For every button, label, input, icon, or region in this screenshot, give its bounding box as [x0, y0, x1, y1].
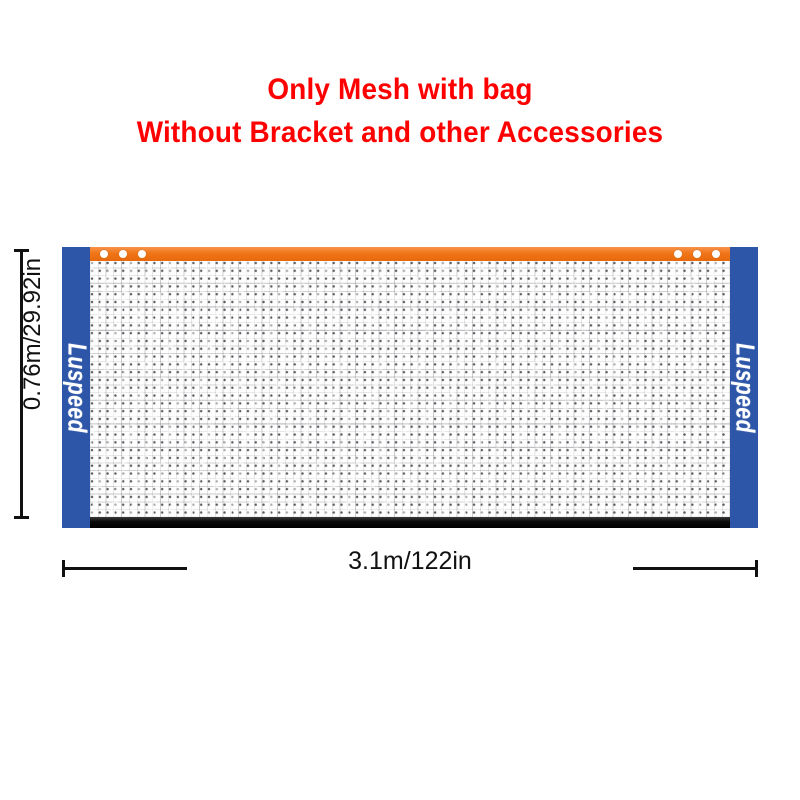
eyelet-icon — [693, 250, 701, 258]
dimension-cap-right — [755, 560, 758, 577]
headline-line-1: Only Mesh with bag — [28, 72, 772, 109]
product-net-figure: Luspeed Luspeed — [62, 247, 758, 528]
dimension-segment-right — [633, 567, 755, 570]
mesh-top-band — [90, 247, 730, 261]
headline-line-2: Without Bracket and other Accessories — [28, 115, 772, 152]
eyelet-icon — [138, 250, 146, 258]
eyelet-icon — [100, 250, 108, 258]
mesh-area — [90, 247, 730, 528]
brand-wordmark-right: Luspeed — [731, 278, 757, 498]
headline-block: Only Mesh with bag Without Bracket and o… — [0, 72, 800, 151]
eyelet-icon — [712, 250, 720, 258]
dimension-line-horizontal: 3.1m/122in — [62, 560, 758, 578]
dimension-label-height: 0.76m/29.92in — [19, 239, 47, 429]
dimension-cap-bottom — [14, 516, 29, 519]
eyelet-icon — [119, 250, 127, 258]
dimension-label-width: 3.1m/122in — [62, 547, 758, 576]
eyelet-icon — [674, 250, 682, 258]
mesh-bottom-cord — [90, 517, 730, 528]
side-band-right: Luspeed — [730, 247, 758, 528]
brand-text-left: Luspeed — [62, 343, 90, 433]
mesh-netting — [90, 261, 730, 518]
eyelet-group-left — [100, 250, 146, 258]
eyelet-group-right — [674, 250, 720, 258]
side-band-left: Luspeed — [62, 247, 90, 528]
brand-text-right: Luspeed — [730, 343, 758, 433]
brand-wordmark-left: Luspeed — [63, 278, 89, 498]
